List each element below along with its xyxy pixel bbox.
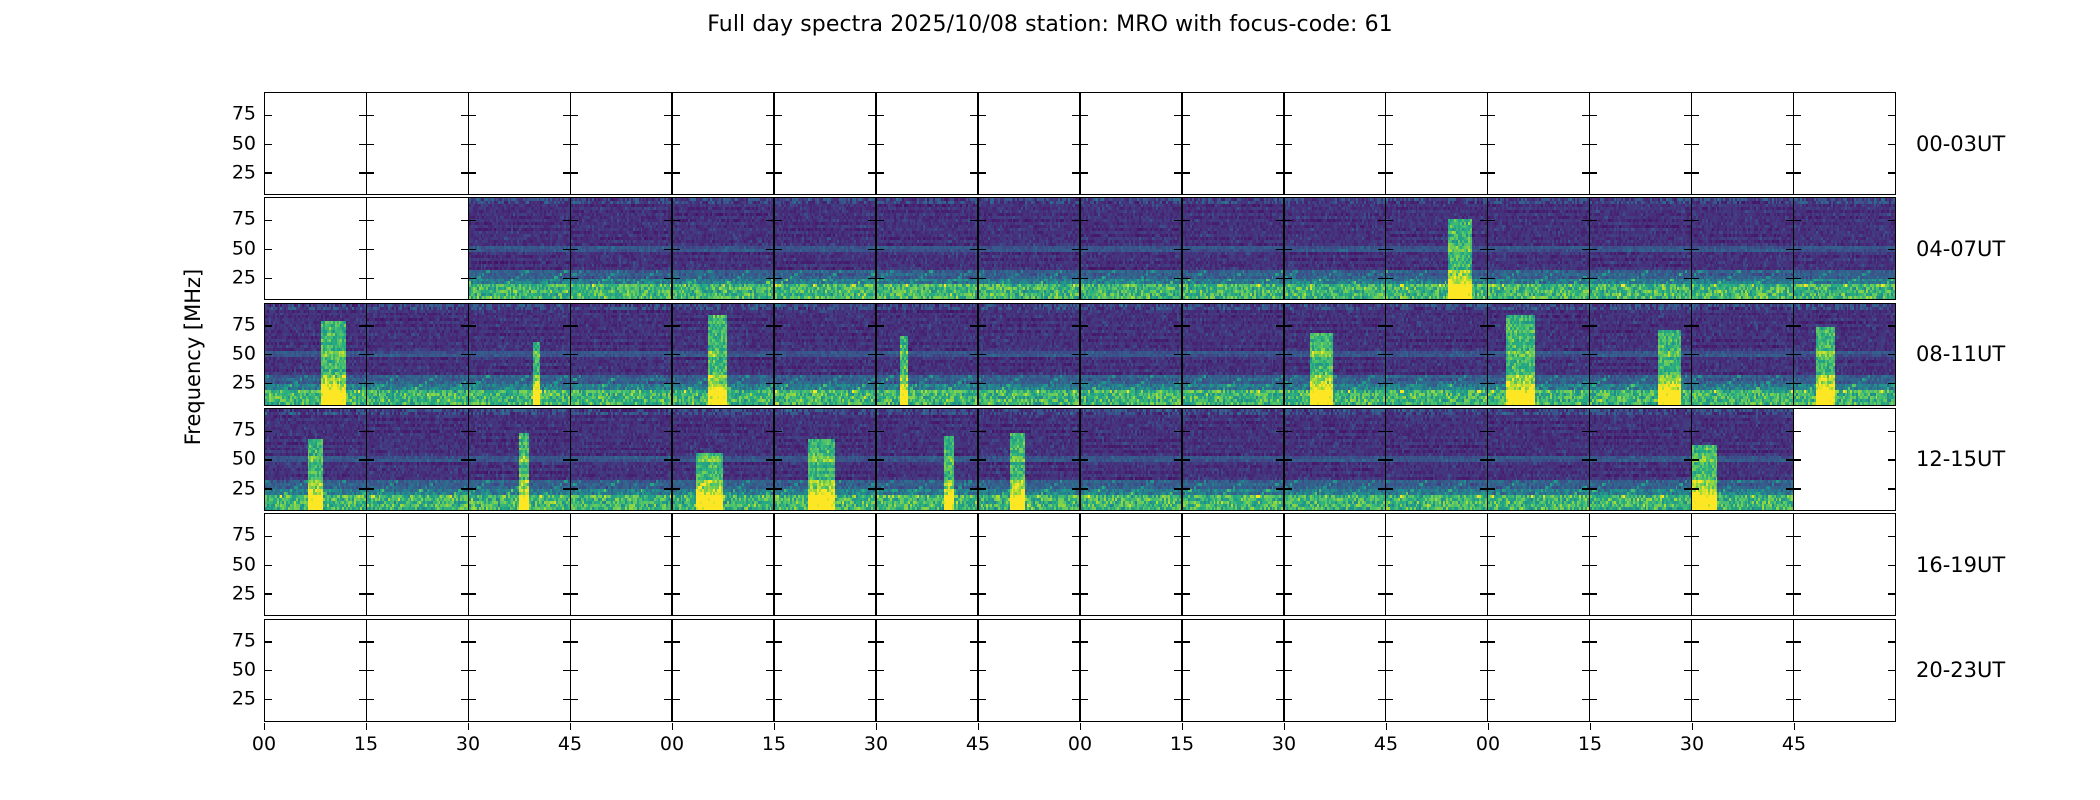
y-tick-mark bbox=[664, 431, 671, 432]
spectrogram-panel[interactable] bbox=[1487, 513, 1590, 616]
y-tick-mark bbox=[877, 354, 884, 355]
spectrogram-panel[interactable] bbox=[264, 513, 367, 616]
spectrogram-panel[interactable] bbox=[570, 513, 673, 616]
y-tick-mark bbox=[563, 172, 570, 173]
y-tick-mark bbox=[461, 220, 468, 221]
y-tick-mark bbox=[970, 354, 977, 355]
y-tick-mark bbox=[1378, 593, 1385, 594]
y-tick-mark bbox=[673, 536, 680, 537]
y-tick-mark bbox=[1386, 325, 1393, 326]
y-tick-mark bbox=[1794, 278, 1801, 279]
y-tick-mark bbox=[1786, 354, 1793, 355]
spectrogram-panel[interactable] bbox=[774, 92, 877, 195]
spectrogram-panel[interactable] bbox=[1182, 197, 1285, 300]
y-tick-mark bbox=[979, 325, 986, 326]
spectrogram-panel[interactable] bbox=[1182, 619, 1285, 722]
y-tick-mark bbox=[1276, 115, 1283, 116]
y-tick-mark bbox=[1378, 278, 1385, 279]
y-tick-mark bbox=[1378, 459, 1385, 460]
y-tick-mark bbox=[1386, 172, 1393, 173]
y-tick-mark bbox=[461, 699, 468, 700]
y-tick-mark bbox=[1480, 383, 1487, 384]
y-tick-mark bbox=[1582, 431, 1589, 432]
y-tick-mark bbox=[877, 278, 884, 279]
spectrogram-panel[interactable] bbox=[264, 92, 367, 195]
y-tick-mark bbox=[1072, 278, 1079, 279]
y-tick-mark bbox=[1692, 593, 1699, 594]
y-tick-mark bbox=[1794, 536, 1801, 537]
spectrogram-panel[interactable] bbox=[1487, 303, 1590, 406]
y-tick-mark bbox=[1285, 593, 1292, 594]
spectrogram-panel[interactable] bbox=[672, 197, 775, 300]
y-tick-mark bbox=[868, 172, 875, 173]
spectrogram-panel[interactable] bbox=[978, 197, 1081, 300]
y-tick-mark bbox=[1786, 220, 1793, 221]
y-tick-mark bbox=[877, 488, 884, 489]
y-tick-mark bbox=[979, 220, 986, 221]
y-tick-mark bbox=[664, 115, 671, 116]
y-tick-mark bbox=[1276, 431, 1283, 432]
y-tick-mark bbox=[1794, 325, 1801, 326]
y-tick-mark bbox=[571, 383, 578, 384]
spectrogram-panel[interactable] bbox=[468, 619, 571, 722]
y-tick-mark bbox=[359, 220, 366, 221]
y-tick-mark bbox=[1081, 354, 1088, 355]
x-tick-label: 45 bbox=[966, 733, 990, 755]
y-tick-mark bbox=[1480, 144, 1487, 145]
y-tick-label: 75 bbox=[232, 421, 256, 440]
y-axis-title-text: Frequency [MHz] bbox=[181, 269, 205, 445]
spectrogram-panel[interactable] bbox=[774, 303, 877, 406]
y-tick-mark bbox=[970, 220, 977, 221]
spectrogram-panel[interactable] bbox=[1182, 513, 1285, 616]
y-tick-mark bbox=[664, 488, 671, 489]
y-tick-mark bbox=[1582, 278, 1589, 279]
y-tick-mark bbox=[1072, 325, 1079, 326]
spectrogram-panel[interactable] bbox=[1182, 408, 1285, 511]
spectrogram-panel[interactable] bbox=[1080, 303, 1183, 406]
spectrogram-image bbox=[1081, 198, 1182, 299]
y-tick-mark bbox=[1174, 115, 1181, 116]
y-tick-mark bbox=[1285, 249, 1292, 250]
y-tick-mark bbox=[469, 670, 476, 671]
y-tick-mark bbox=[1786, 115, 1793, 116]
spectrogram-panel[interactable] bbox=[570, 303, 673, 406]
y-tick-mark bbox=[1488, 459, 1495, 460]
y-tick-mark bbox=[1276, 699, 1283, 700]
y-tick-mark bbox=[461, 115, 468, 116]
y-tick-label: 25 bbox=[232, 479, 256, 498]
y-tick-mark bbox=[979, 565, 986, 566]
y-tick-mark bbox=[1378, 325, 1385, 326]
y-tick-mark bbox=[970, 115, 977, 116]
y-tick-mark bbox=[265, 354, 272, 355]
spectrogram-image bbox=[1183, 198, 1284, 299]
y-tick-mark bbox=[1684, 115, 1691, 116]
spectrogram-panel[interactable] bbox=[468, 513, 571, 616]
y-tick-mark bbox=[563, 488, 570, 489]
y-tick-mark bbox=[868, 536, 875, 537]
spectrogram-image bbox=[367, 304, 468, 405]
spectrogram-panel[interactable] bbox=[672, 92, 775, 195]
x-tick-mark bbox=[1692, 723, 1693, 730]
y-tick-mark bbox=[469, 220, 476, 221]
y-tick-labels: 755025 bbox=[204, 197, 256, 300]
spectrogram-image bbox=[673, 198, 774, 299]
spectrogram-panel[interactable] bbox=[774, 619, 877, 722]
y-tick-mark bbox=[1488, 249, 1495, 250]
spectrogram-image bbox=[1488, 409, 1589, 510]
spectrogram-panel[interactable] bbox=[264, 408, 367, 511]
y-tick-mark bbox=[1786, 278, 1793, 279]
spectrogram-panel[interactable] bbox=[774, 513, 877, 616]
y-tick-mark bbox=[1692, 172, 1699, 173]
y-tick-mark bbox=[1888, 565, 1895, 566]
row-label-12-15ut: 12-15UT bbox=[1916, 447, 2005, 471]
y-tick-mark bbox=[1183, 325, 1190, 326]
x-tick-mark bbox=[570, 723, 571, 730]
spectrogram-panel[interactable] bbox=[1385, 408, 1488, 511]
y-tick-mark bbox=[1888, 536, 1895, 537]
y-tick-mark bbox=[359, 641, 366, 642]
spectrogram-image bbox=[775, 409, 876, 510]
y-tick-mark bbox=[868, 593, 875, 594]
y-tick-mark bbox=[461, 354, 468, 355]
y-tick-mark bbox=[359, 459, 366, 460]
y-tick-mark bbox=[359, 431, 366, 432]
row-label-08-11ut: 08-11UT bbox=[1916, 342, 2005, 366]
y-tick-mark bbox=[367, 488, 374, 489]
y-tick-mark bbox=[367, 220, 374, 221]
spectrogram-panel[interactable] bbox=[1487, 197, 1590, 300]
spectrogram-panel[interactable] bbox=[1589, 92, 1692, 195]
y-tick-mark bbox=[1081, 249, 1088, 250]
spectrogram-panel[interactable] bbox=[876, 197, 979, 300]
spectrogram-panel[interactable] bbox=[1487, 408, 1590, 511]
y-tick-mark bbox=[1684, 699, 1691, 700]
spectrogram-panel[interactable] bbox=[1589, 197, 1692, 300]
spectrogram-panel[interactable] bbox=[570, 408, 673, 511]
y-tick-mark bbox=[1072, 641, 1079, 642]
y-tick-mark bbox=[1183, 115, 1190, 116]
spectrogram-panel[interactable] bbox=[1182, 303, 1285, 406]
spectrogram-panel[interactable] bbox=[774, 197, 877, 300]
y-tick-mark bbox=[1480, 431, 1487, 432]
spectrogram-panel[interactable] bbox=[1385, 197, 1488, 300]
y-tick-mark bbox=[469, 249, 476, 250]
spectrogram-panel[interactable] bbox=[876, 619, 979, 722]
y-tick-mark bbox=[571, 488, 578, 489]
y-tick-mark bbox=[1480, 641, 1487, 642]
y-tick-mark bbox=[571, 144, 578, 145]
y-tick-mark bbox=[1480, 249, 1487, 250]
y-tick-mark bbox=[1684, 670, 1691, 671]
spectrogram-panel[interactable] bbox=[468, 408, 571, 511]
y-tick-mark bbox=[1183, 670, 1190, 671]
spectrogram-panel[interactable] bbox=[1793, 408, 1896, 511]
spectrogram-panel[interactable] bbox=[468, 92, 571, 195]
y-tick-mark bbox=[461, 383, 468, 384]
y-tick-mark bbox=[1386, 641, 1393, 642]
spectrogram-panel[interactable] bbox=[264, 303, 367, 406]
y-tick-mark bbox=[1285, 699, 1292, 700]
spectrogram-panel[interactable] bbox=[1385, 303, 1488, 406]
spectrogram-panel[interactable] bbox=[366, 197, 469, 300]
y-tick-mark bbox=[265, 172, 272, 173]
y-tick-mark bbox=[359, 565, 366, 566]
y-tick-mark bbox=[1183, 431, 1190, 432]
y-tick-mark bbox=[1081, 278, 1088, 279]
y-tick-mark bbox=[766, 172, 773, 173]
y-tick-mark bbox=[469, 488, 476, 489]
y-tick-mark bbox=[1480, 459, 1487, 460]
spectrogram-panel[interactable] bbox=[1793, 197, 1896, 300]
y-tick-mark bbox=[1081, 325, 1088, 326]
y-tick-label: 75 bbox=[232, 105, 256, 124]
y-tick-mark bbox=[1386, 593, 1393, 594]
spectrogram-image bbox=[1183, 304, 1284, 405]
y-tick-mark bbox=[469, 354, 476, 355]
spectrogram-panel[interactable] bbox=[876, 303, 979, 406]
y-tick-mark bbox=[775, 325, 782, 326]
y-tick-mark bbox=[1480, 699, 1487, 700]
x-tick-mark bbox=[978, 723, 979, 730]
spectrogram-row-00-03ut bbox=[264, 92, 1896, 195]
spectrogram-panel[interactable] bbox=[1284, 619, 1387, 722]
spectrogram-panel[interactable] bbox=[978, 513, 1081, 616]
y-tick-mark bbox=[970, 536, 977, 537]
x-tick-label: 00 bbox=[1068, 733, 1092, 755]
y-tick-mark bbox=[970, 488, 977, 489]
y-tick-mark bbox=[970, 249, 977, 250]
spectrogram-row-20-23ut bbox=[264, 619, 1896, 722]
spectrogram-panel[interactable] bbox=[1589, 619, 1692, 722]
y-tick-mark bbox=[775, 383, 782, 384]
spectrogram-panel[interactable] bbox=[1284, 92, 1387, 195]
y-tick-mark bbox=[1378, 565, 1385, 566]
y-tick-mark bbox=[469, 641, 476, 642]
y-tick-mark bbox=[1786, 383, 1793, 384]
spectrogram-image bbox=[571, 409, 672, 510]
y-tick-mark bbox=[1378, 354, 1385, 355]
y-tick-mark bbox=[265, 144, 272, 145]
spectrogram-panel[interactable] bbox=[1691, 619, 1794, 722]
y-tick-mark bbox=[367, 383, 374, 384]
y-tick-mark bbox=[571, 115, 578, 116]
spectrogram-panel[interactable] bbox=[978, 92, 1081, 195]
spectrogram-panel[interactable] bbox=[264, 197, 367, 300]
spectrogram-image bbox=[1386, 304, 1487, 405]
spectrogram-panel[interactable] bbox=[1284, 408, 1387, 511]
y-tick-mark bbox=[1480, 536, 1487, 537]
spectrogram-panel[interactable] bbox=[570, 197, 673, 300]
y-tick-mark bbox=[970, 172, 977, 173]
spectrogram-panel[interactable] bbox=[366, 408, 469, 511]
y-tick-mark bbox=[1285, 488, 1292, 489]
y-tick-mark bbox=[766, 383, 773, 384]
y-tick-mark bbox=[1480, 172, 1487, 173]
y-tick-mark bbox=[571, 459, 578, 460]
y-tick-mark bbox=[359, 278, 366, 279]
y-tick-mark bbox=[1285, 536, 1292, 537]
y-tick-mark bbox=[970, 565, 977, 566]
y-tick-mark bbox=[979, 699, 986, 700]
spectrogram-panel[interactable] bbox=[978, 303, 1081, 406]
spectrogram-panel[interactable] bbox=[1691, 408, 1794, 511]
y-tick-mark bbox=[1285, 278, 1292, 279]
spectrogram-panel[interactable] bbox=[1487, 92, 1590, 195]
spectrogram-panel[interactable] bbox=[876, 513, 979, 616]
y-tick-mark bbox=[1582, 641, 1589, 642]
spectrogram-panel[interactable] bbox=[876, 408, 979, 511]
spectrogram-panel[interactable] bbox=[1691, 513, 1794, 616]
y-tick-mark bbox=[1692, 459, 1699, 460]
y-tick-label: 25 bbox=[232, 163, 256, 182]
y-tick-mark bbox=[563, 249, 570, 250]
y-tick-mark bbox=[571, 641, 578, 642]
y-tick-mark bbox=[979, 641, 986, 642]
spectrogram-panel[interactable] bbox=[1589, 408, 1692, 511]
y-tick-mark bbox=[766, 459, 773, 460]
spectrogram-panel[interactable] bbox=[570, 92, 673, 195]
x-tick-label: 15 bbox=[762, 733, 786, 755]
spectrogram-panel[interactable] bbox=[876, 92, 979, 195]
y-tick-mark bbox=[1480, 115, 1487, 116]
y-tick-mark bbox=[1183, 641, 1190, 642]
y-tick-label: 50 bbox=[232, 450, 256, 469]
y-tick-mark bbox=[1386, 459, 1393, 460]
spectrogram-panel[interactable] bbox=[672, 619, 775, 722]
spectrogram-panel[interactable] bbox=[1589, 513, 1692, 616]
spectrogram-panel[interactable] bbox=[264, 619, 367, 722]
y-tick-mark bbox=[1480, 488, 1487, 489]
y-tick-mark bbox=[673, 488, 680, 489]
spectrogram-panel[interactable] bbox=[1080, 92, 1183, 195]
y-tick-mark bbox=[1386, 354, 1393, 355]
y-tick-mark bbox=[877, 172, 884, 173]
spectrogram-panel[interactable] bbox=[366, 303, 469, 406]
y-tick-mark bbox=[1786, 431, 1793, 432]
spectrogram-panel[interactable] bbox=[366, 92, 469, 195]
y-tick-mark bbox=[775, 115, 782, 116]
y-tick-mark bbox=[1794, 593, 1801, 594]
y-tick-mark bbox=[970, 431, 977, 432]
y-tick-mark bbox=[1174, 593, 1181, 594]
y-tick-mark bbox=[1285, 115, 1292, 116]
spectrogram-panel[interactable] bbox=[366, 619, 469, 722]
y-tick-mark bbox=[1276, 249, 1283, 250]
spectrogram-panel[interactable] bbox=[366, 513, 469, 616]
y-tick-mark bbox=[877, 144, 884, 145]
y-tick-mark bbox=[1285, 459, 1292, 460]
spectrogram-panel[interactable] bbox=[1793, 303, 1896, 406]
spectrogram-panel[interactable] bbox=[672, 513, 775, 616]
y-tick-label: 75 bbox=[232, 631, 256, 650]
y-tick-mark bbox=[673, 172, 680, 173]
spectrogram-panel[interactable] bbox=[1080, 619, 1183, 722]
y-tick-mark bbox=[367, 249, 374, 250]
y-tick-mark bbox=[1786, 641, 1793, 642]
y-tick-mark bbox=[1183, 459, 1190, 460]
spectrogram-image bbox=[673, 304, 774, 405]
spectrogram-panel[interactable] bbox=[570, 619, 673, 722]
spectrogram-panel[interactable] bbox=[1691, 92, 1794, 195]
y-tick-mark bbox=[571, 431, 578, 432]
y-tick-mark bbox=[1590, 641, 1597, 642]
y-tick-mark bbox=[1684, 325, 1691, 326]
y-tick-mark bbox=[673, 383, 680, 384]
y-tick-mark bbox=[1081, 431, 1088, 432]
y-tick-mark bbox=[1684, 593, 1691, 594]
y-tick-mark bbox=[1072, 699, 1079, 700]
y-tick-mark bbox=[673, 325, 680, 326]
spectrogram-panel[interactable] bbox=[1080, 513, 1183, 616]
spectrogram-panel[interactable] bbox=[1793, 513, 1896, 616]
spectrogram-panel[interactable] bbox=[1691, 303, 1794, 406]
y-tick-mark bbox=[571, 593, 578, 594]
y-tick-mark bbox=[1081, 699, 1088, 700]
y-tick-mark bbox=[1794, 488, 1801, 489]
y-tick-mark bbox=[1888, 488, 1895, 489]
spectrogram-panel[interactable] bbox=[774, 408, 877, 511]
spectrogram-panel[interactable] bbox=[1691, 197, 1794, 300]
y-tick-mark bbox=[1590, 220, 1597, 221]
spectrogram-panel[interactable] bbox=[1182, 92, 1285, 195]
y-tick-mark bbox=[1794, 699, 1801, 700]
spectrogram-row-16-19ut bbox=[264, 513, 1896, 616]
y-tick-mark bbox=[1684, 488, 1691, 489]
y-tick-mark bbox=[1488, 172, 1495, 173]
spectrogram-panel[interactable] bbox=[1385, 619, 1488, 722]
y-tick-mark bbox=[563, 144, 570, 145]
y-tick-mark bbox=[970, 593, 977, 594]
spectrogram-panel[interactable] bbox=[978, 408, 1081, 511]
y-tick-mark bbox=[1072, 536, 1079, 537]
y-tick-mark bbox=[766, 325, 773, 326]
spectrogram-panel[interactable] bbox=[1487, 619, 1590, 722]
y-tick-mark bbox=[1786, 249, 1793, 250]
spectrogram-panel[interactable] bbox=[1080, 408, 1183, 511]
spectrogram-panel[interactable] bbox=[468, 303, 571, 406]
spectrogram-panel[interactable] bbox=[1284, 303, 1387, 406]
y-tick-label: 75 bbox=[232, 315, 256, 334]
y-tick-mark bbox=[469, 144, 476, 145]
spectrogram-panel[interactable] bbox=[1385, 92, 1488, 195]
y-tick-mark bbox=[1888, 431, 1895, 432]
y-tick-mark bbox=[1072, 220, 1079, 221]
y-tick-mark bbox=[367, 459, 374, 460]
spectrogram-panel[interactable] bbox=[1793, 92, 1896, 195]
spectrogram-panel[interactable] bbox=[468, 197, 571, 300]
spectrogram-panel[interactable] bbox=[978, 619, 1081, 722]
y-tick-mark bbox=[265, 431, 272, 432]
spectrogram-panel[interactable] bbox=[672, 303, 775, 406]
y-tick-mark bbox=[664, 593, 671, 594]
y-tick-mark bbox=[469, 172, 476, 173]
y-tick-mark bbox=[1692, 144, 1699, 145]
spectrogram-panel[interactable] bbox=[672, 408, 775, 511]
y-tick-mark bbox=[1183, 536, 1190, 537]
y-tick-label: 50 bbox=[232, 134, 256, 153]
spectrogram-panel[interactable] bbox=[1284, 513, 1387, 616]
spectrogram-panel[interactable] bbox=[1284, 197, 1387, 300]
y-tick-mark bbox=[877, 641, 884, 642]
spectrogram-panel[interactable] bbox=[1080, 197, 1183, 300]
y-tick-mark bbox=[979, 278, 986, 279]
spectrogram-panel[interactable] bbox=[1385, 513, 1488, 616]
spectrogram-panel[interactable] bbox=[1589, 303, 1692, 406]
spectrogram-panel[interactable] bbox=[1793, 619, 1896, 722]
